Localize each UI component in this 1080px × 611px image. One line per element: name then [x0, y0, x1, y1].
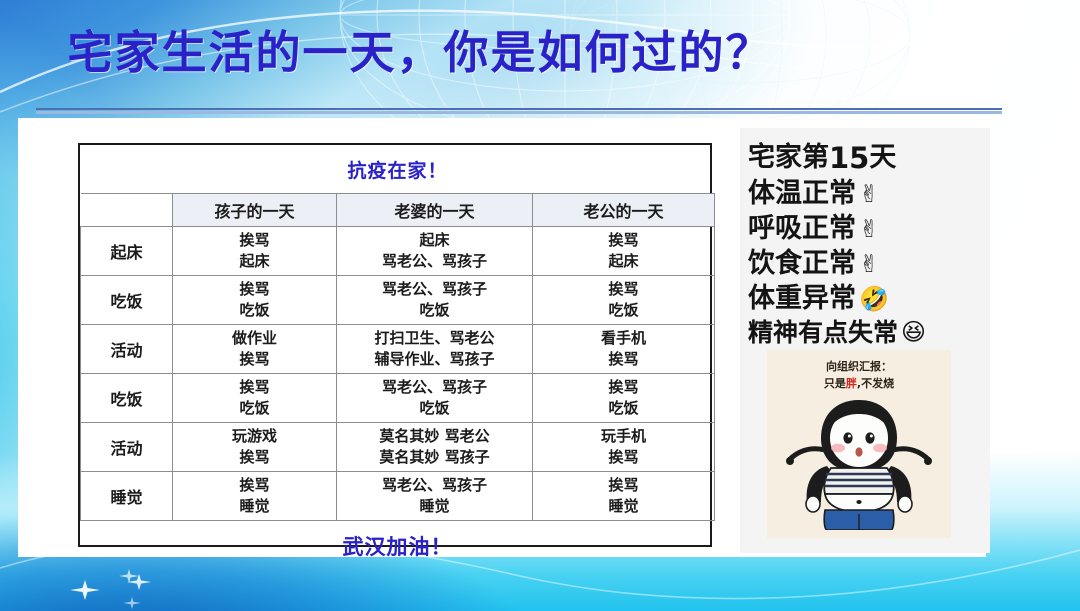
slide-canvas: 宅家生活的一天，你是如何过的？ 抗疫在家！ 孩子的一天 老婆的一天 老公的一天 [0, 0, 1080, 611]
cell-line: 吃饭 [338, 400, 531, 418]
cell-husband: 挨骂吃饭 [533, 374, 715, 423]
meme-day-suffix: 天 [869, 141, 896, 176]
row-label: 起床 [81, 227, 173, 276]
cell-line: 莫名其妙 骂老公 [338, 428, 531, 446]
row-label: 吃饭 [81, 374, 173, 423]
cartoon-card: 向组织汇报： 只是胖,不发烧 [767, 350, 951, 538]
cell-line: 吃饭 [534, 302, 713, 320]
cell-line: 挨骂 [174, 281, 335, 299]
cartoon-caption-line2: 只是胖,不发烧 [767, 375, 951, 392]
grinning-squinting-face-icon: 😆 [901, 317, 926, 348]
row-label: 吃饭 [81, 276, 173, 325]
chubby-character-illustration [781, 394, 937, 530]
daily-routine-table-container: 抗疫在家！ 孩子的一天 老婆的一天 老公的一天 起床 挨骂起床 起床骂老公、骂孩… [78, 143, 712, 547]
cell-wife: 骂老公、骂孩子吃饭 [337, 374, 533, 423]
title-divider [36, 108, 1002, 114]
meme-line-text: 呼吸正常 [748, 212, 856, 247]
table-row: 活动 做作业挨骂 打扫卫生、骂老公辅导作业、骂孩子 看手机挨骂 [81, 325, 715, 374]
cell-line: 骂老公、骂孩子 [338, 379, 531, 397]
meme-line-text: 体重异常 [748, 282, 856, 317]
victory-hand-icon: ✌ [859, 179, 879, 210]
cell-wife: 莫名其妙 骂老公莫名其妙 骂孩子 [337, 423, 533, 472]
cell-line: 吃饭 [174, 302, 335, 320]
cell-husband: 看手机挨骂 [533, 325, 715, 374]
cell-line: 玩手机 [534, 428, 713, 446]
meme-line-day: 宅家第15天 [748, 140, 988, 177]
meme-line-text: 体温正常 [748, 177, 856, 212]
cell-line: 挨骂 [534, 232, 713, 250]
cell-child: 挨骂起床 [173, 227, 337, 276]
meme-line-text: 精神有点失常 [748, 317, 898, 349]
cell-line: 睡觉 [534, 498, 713, 516]
cell-line: 骂老公、骂孩子 [338, 477, 531, 495]
cell-line: 吃饭 [534, 400, 713, 418]
victory-hand-icon: ✌ [859, 214, 879, 245]
caption-part-b: ,不发烧 [857, 377, 894, 390]
column-header-husband: 老公的一天 [533, 194, 715, 227]
caption-highlight: 胖 [846, 377, 857, 390]
cell-line: 莫名其妙 骂孩子 [338, 449, 531, 467]
cell-wife: 起床骂老公、骂孩子 [337, 227, 533, 276]
cell-line: 挨骂 [174, 232, 335, 250]
table-header-row: 孩子的一天 老婆的一天 老公的一天 [81, 194, 715, 227]
meme-day-number: 15 [829, 140, 869, 177]
table-caption-row: 抗疫在家！ [81, 145, 715, 194]
row-label: 睡觉 [81, 472, 173, 521]
meme-line-text: 饮食正常 [748, 247, 856, 282]
caption-part-a: 只是 [824, 377, 846, 390]
table-footer-row: 武汉加油！ [81, 521, 715, 572]
cell-line: 辅导作业、骂孩子 [338, 351, 531, 369]
page-title: 宅家生活的一天，你是如何过的？ [0, 22, 840, 84]
meme-line-weight: 体重异常 🤣 [748, 282, 988, 317]
table-caption: 抗疫在家！ [81, 145, 715, 194]
table-row: 活动 玩游戏挨骂 莫名其妙 骂老公莫名其妙 骂孩子 玩手机挨骂 [81, 423, 715, 472]
cell-line: 看手机 [534, 330, 713, 348]
cell-husband: 玩手机挨骂 [533, 423, 715, 472]
table-row: 吃饭 挨骂吃饭 骂老公、骂孩子吃饭 挨骂吃饭 [81, 276, 715, 325]
meme-text-block: 宅家第15天 体温正常 ✌ 呼吸正常 ✌ 饮食正常 ✌ 体重异常 🤣 精神有点失… [748, 140, 988, 349]
meme-day-prefix: 宅家第 [748, 141, 829, 176]
table-row: 吃饭 挨骂吃饭 骂老公、骂孩子吃饭 挨骂吃饭 [81, 374, 715, 423]
cell-line: 起床 [174, 253, 335, 271]
meme-line-mental: 精神有点失常 😆 [748, 317, 988, 349]
daily-routine-table: 抗疫在家！ 孩子的一天 老婆的一天 老公的一天 起床 挨骂起床 起床骂老公、骂孩… [80, 145, 715, 571]
cell-line: 挨骂 [534, 379, 713, 397]
sparkle-icon-3 [122, 596, 142, 610]
cell-line: 吃饭 [338, 302, 531, 320]
cell-line: 玩游戏 [174, 428, 335, 446]
sparkle-icon-4 [125, 572, 153, 592]
meme-line-breathing: 呼吸正常 ✌ [748, 212, 988, 247]
cell-wife: 骂老公、骂孩子吃饭 [337, 276, 533, 325]
cell-line: 睡觉 [338, 498, 531, 516]
cell-line: 打扫卫生、骂老公 [338, 330, 531, 348]
meme-panel: 宅家第15天 体温正常 ✌ 呼吸正常 ✌ 饮食正常 ✌ 体重异常 🤣 精神有点失… [740, 128, 990, 553]
cell-child: 玩游戏挨骂 [173, 423, 337, 472]
cartoon-caption-line1: 向组织汇报： [767, 358, 951, 375]
column-header-blank [81, 194, 173, 227]
cell-line: 起床 [534, 253, 713, 271]
cell-line: 挨骂 [174, 477, 335, 495]
victory-hand-icon: ✌ [859, 249, 879, 280]
cell-child: 挨骂吃饭 [173, 276, 337, 325]
cartoon-caption: 向组织汇报： 只是胖,不发烧 [767, 358, 951, 392]
column-header-child: 孩子的一天 [173, 194, 337, 227]
cell-line: 骂老公、骂孩子 [338, 281, 531, 299]
cell-child: 挨骂睡觉 [173, 472, 337, 521]
cell-line: 挨骂 [534, 351, 713, 369]
cell-husband: 挨骂吃饭 [533, 276, 715, 325]
cell-child: 做作业挨骂 [173, 325, 337, 374]
cell-line: 挨骂 [534, 449, 713, 467]
table-row: 睡觉 挨骂睡觉 骂老公、骂孩子睡觉 挨骂睡觉 [81, 472, 715, 521]
table-footer: 武汉加油！ [81, 521, 715, 572]
cell-wife: 打扫卫生、骂老公辅导作业、骂孩子 [337, 325, 533, 374]
cell-line: 吃饭 [174, 400, 335, 418]
meme-line-diet: 饮食正常 ✌ [748, 247, 988, 282]
column-header-wife: 老婆的一天 [337, 194, 533, 227]
rolling-on-floor-laughing-icon: 🤣 [859, 284, 889, 315]
cell-husband: 挨骂起床 [533, 227, 715, 276]
row-label: 活动 [81, 325, 173, 374]
cell-line: 挨骂 [534, 477, 713, 495]
cell-line: 挨骂 [174, 449, 335, 467]
cell-line: 做作业 [174, 330, 335, 348]
cell-line: 起床 [338, 232, 531, 250]
row-label: 活动 [81, 423, 173, 472]
cell-line: 挨骂 [534, 281, 713, 299]
meme-line-temperature: 体温正常 ✌ [748, 177, 988, 212]
cell-line: 骂老公、骂孩子 [338, 253, 531, 271]
cell-child: 挨骂吃饭 [173, 374, 337, 423]
cell-husband: 挨骂睡觉 [533, 472, 715, 521]
cell-line: 睡觉 [174, 498, 335, 516]
cell-line: 挨骂 [174, 351, 335, 369]
sparkle-icon [68, 578, 102, 602]
table-row: 起床 挨骂起床 起床骂老公、骂孩子 挨骂起床 [81, 227, 715, 276]
cell-wife: 骂老公、骂孩子睡觉 [337, 472, 533, 521]
cell-line: 挨骂 [174, 379, 335, 397]
